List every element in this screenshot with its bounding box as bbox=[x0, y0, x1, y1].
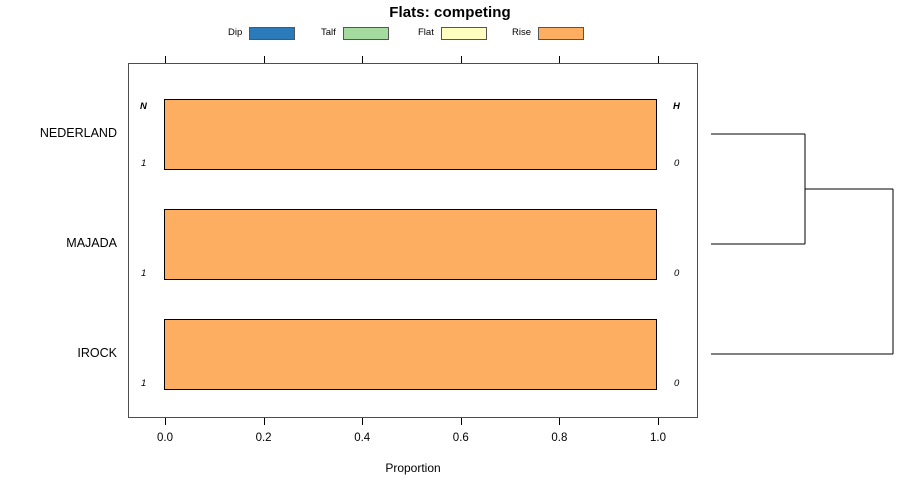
x-tick-bottom bbox=[264, 418, 265, 425]
bar-row bbox=[128, 99, 698, 170]
bar-segment-rise[interactable] bbox=[164, 319, 657, 390]
x-tick-label: 0.2 bbox=[256, 432, 272, 444]
x-tick-bottom bbox=[461, 418, 462, 425]
legend-label: Dip bbox=[228, 28, 242, 38]
x-tick-top bbox=[165, 56, 166, 63]
x-tick-bottom bbox=[559, 418, 560, 425]
x-tick-label: 0.8 bbox=[551, 432, 567, 444]
row-note-top-right: H bbox=[673, 101, 680, 112]
x-tick-label: 1.0 bbox=[650, 432, 666, 444]
legend-item-talf[interactable]: Talf bbox=[321, 24, 389, 42]
category-label-nederland: NEDERLAND bbox=[40, 126, 117, 140]
bar-segment-rise[interactable] bbox=[164, 209, 657, 280]
row-note-bottom-left: 1 bbox=[141, 268, 146, 279]
x-tick-label: 0.0 bbox=[157, 432, 173, 444]
chart-title: Flats: competing bbox=[0, 4, 900, 21]
x-tick-bottom bbox=[362, 418, 363, 425]
chart-legend: DipTalfFlatRise bbox=[0, 24, 900, 44]
bar-segment-rise[interactable] bbox=[164, 99, 657, 170]
x-tick-top bbox=[559, 56, 560, 63]
chart-canvas: Flats: competing DipTalfFlatRise 0.00.20… bbox=[0, 0, 900, 500]
x-axis-title: Proportion bbox=[128, 461, 698, 475]
bar-row bbox=[128, 319, 698, 390]
legend-swatch-flat bbox=[441, 27, 487, 40]
x-tick-bottom bbox=[165, 418, 166, 425]
row-note-bottom-left: 1 bbox=[141, 158, 146, 169]
bar-row bbox=[128, 209, 698, 280]
legend-label: Rise bbox=[512, 28, 531, 38]
category-label-majada: MAJADA bbox=[66, 236, 117, 250]
category-label-irock: IROCK bbox=[77, 346, 117, 360]
row-note-bottom-right: 0 bbox=[674, 268, 679, 279]
x-tick-top bbox=[362, 56, 363, 63]
legend-item-rise[interactable]: Rise bbox=[512, 24, 584, 42]
legend-swatch-talf bbox=[343, 27, 389, 40]
dendrogram bbox=[700, 63, 900, 418]
x-tick-bottom bbox=[658, 418, 659, 425]
x-tick-top bbox=[461, 56, 462, 63]
x-tick-top bbox=[658, 56, 659, 63]
row-note-bottom-right: 0 bbox=[674, 378, 679, 389]
x-tick-label: 0.6 bbox=[453, 432, 469, 444]
legend-swatch-dip bbox=[249, 27, 295, 40]
x-tick-top bbox=[264, 56, 265, 63]
x-tick-label: 0.4 bbox=[354, 432, 370, 444]
row-note-top-left: N bbox=[140, 101, 147, 112]
legend-label: Talf bbox=[321, 28, 336, 38]
row-note-bottom-left: 1 bbox=[141, 378, 146, 389]
row-note-bottom-right: 0 bbox=[674, 158, 679, 169]
legend-label: Flat bbox=[418, 28, 434, 38]
legend-swatch-rise bbox=[538, 27, 584, 40]
legend-item-dip[interactable]: Dip bbox=[228, 24, 295, 42]
legend-item-flat[interactable]: Flat bbox=[418, 24, 487, 42]
